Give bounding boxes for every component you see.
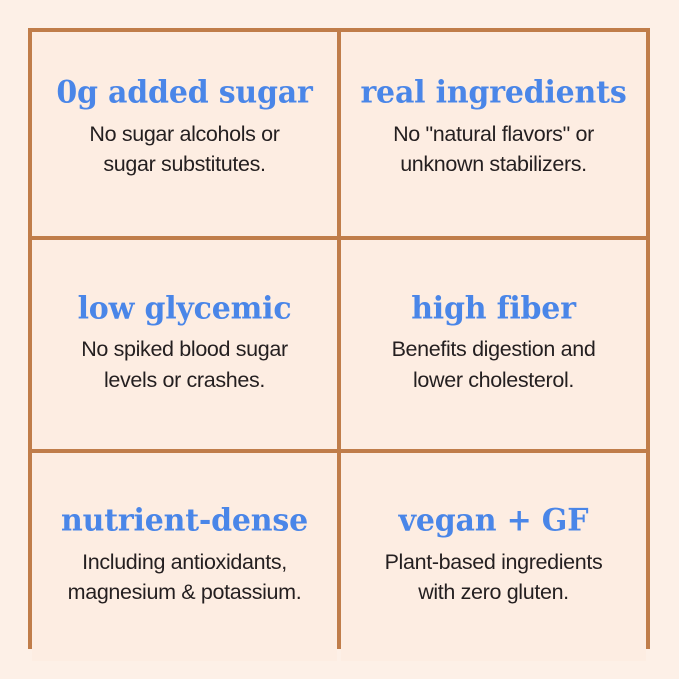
benefit-body: Including antioxidants, magnesium & pota… (68, 547, 302, 608)
benefit-body-line: No "natural flavors" or (393, 119, 594, 150)
benefit-body-line: unknown stabilizers. (393, 149, 594, 180)
benefit-body-line: sugar substitutes. (89, 149, 279, 180)
benefit-body: No spiked blood sugar levels or crashes. (81, 334, 288, 395)
benefit-body-line: Benefits digestion and (392, 334, 596, 365)
benefit-heading: nutrient-dense (61, 505, 308, 538)
benefit-body-line: No sugar alcohols or (89, 119, 279, 150)
benefit-heading: high fiber (411, 292, 576, 325)
benefit-body-line: No spiked blood sugar (81, 334, 288, 365)
benefit-heading: 0g added sugar (56, 77, 312, 110)
benefit-cell-high-fiber: high fiber Benefits digestion and lower … (341, 240, 646, 449)
benefit-body-line: lower cholesterol. (392, 365, 596, 396)
benefit-body-line: magnesium & potassium. (68, 577, 302, 608)
benefit-heading: vegan + GF (399, 505, 589, 538)
benefit-cell-low-glycemic: low glycemic No spiked blood sugar level… (32, 240, 337, 449)
benefit-body: No "natural flavors" or unknown stabiliz… (393, 119, 594, 180)
benefit-body: Plant-based ingredients with zero gluten… (385, 547, 603, 608)
benefits-grid: 0g added sugar No sugar alcohols or suga… (28, 28, 650, 649)
benefit-body-line: Plant-based ingredients (385, 547, 603, 578)
benefit-heading: real ingredients (360, 77, 626, 110)
benefit-cell-added-sugar: 0g added sugar No sugar alcohols or suga… (32, 32, 337, 236)
benefit-cell-nutrient-dense: nutrient-dense Including antioxidants, m… (32, 453, 337, 661)
benefit-cell-real-ingredients: real ingredients No "natural flavors" or… (341, 32, 646, 236)
benefit-body-line: Including antioxidants, (68, 547, 302, 578)
benefit-body: Benefits digestion and lower cholesterol… (392, 334, 596, 395)
benefit-cell-vegan-gf: vegan + GF Plant-based ingredients with … (341, 453, 646, 661)
benefit-body: No sugar alcohols or sugar substitutes. (89, 119, 279, 180)
benefit-body-line: with zero gluten. (385, 577, 603, 608)
benefit-body-line: levels or crashes. (81, 365, 288, 396)
benefit-heading: low glycemic (78, 292, 292, 325)
